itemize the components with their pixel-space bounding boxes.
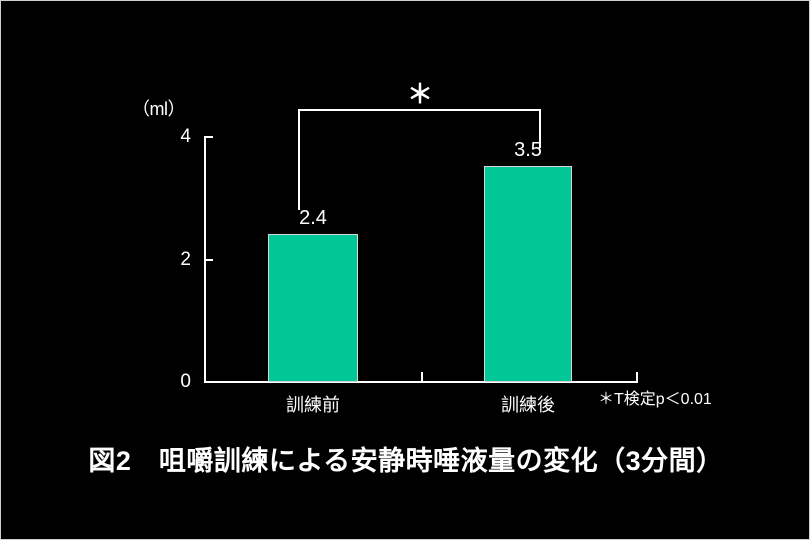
bar-value-before-training: 2.4 — [273, 208, 353, 228]
statistical-test-note: ＊T検定p＜0.01 — [598, 391, 712, 409]
y-tick-label-4: 4 — [151, 127, 191, 146]
figure-root: （ml） 4 2 0 2.4 訓練前 3.5 訓練後 ＊ ＊T検定p＜0.01 … — [0, 0, 810, 540]
significance-bracket-left-arm — [298, 109, 300, 210]
bar-after-training — [484, 166, 572, 382]
x-tick-mark-start — [204, 372, 206, 382]
significance-asterisk: ＊ — [405, 81, 435, 107]
x-category-label-before-training: 訓練前 — [263, 395, 363, 415]
bar-value-after-training: 3.5 — [488, 140, 568, 160]
figure-caption: 図2 咀嚼訓練による安静時唾液量の変化（3分間） — [1, 444, 810, 478]
y-tick-mark-2 — [204, 259, 213, 261]
x-tick-mark-end — [636, 372, 638, 382]
y-tick-label-2: 2 — [151, 250, 191, 269]
x-tick-mark-middle — [421, 372, 423, 382]
significance-bracket-right-arm — [539, 109, 541, 148]
y-tick-label-0: 0 — [151, 372, 191, 391]
x-category-label-after-training: 訓練後 — [478, 395, 578, 415]
significance-bracket-top — [298, 109, 541, 111]
bar-before-training — [268, 234, 358, 382]
y-axis-unit-label: （ml） — [132, 95, 185, 121]
y-tick-mark-4 — [204, 136, 213, 138]
